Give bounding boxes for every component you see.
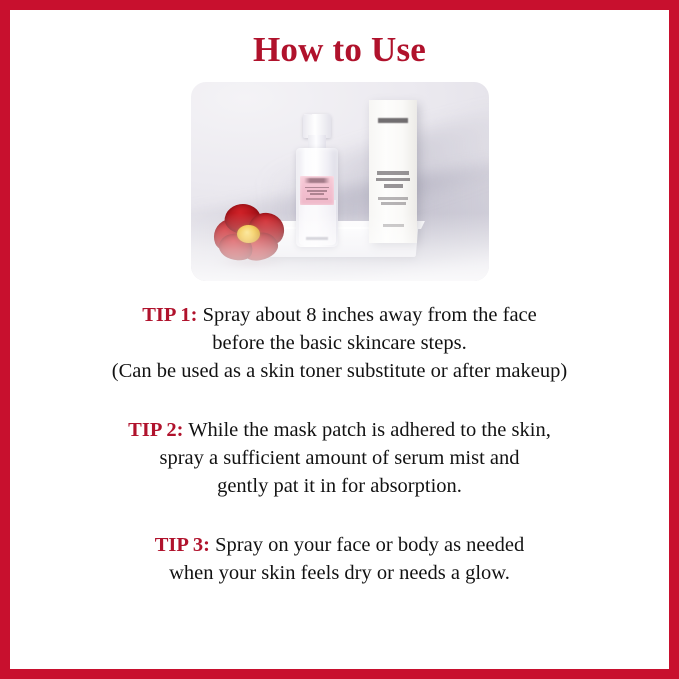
tip-1-line-3: (Can be used as a skin toner substitute … <box>24 357 655 385</box>
backdrop-floor-glow <box>191 213 489 281</box>
bottle-label-text-line <box>307 190 328 192</box>
bottle-label-text-line <box>306 198 328 199</box>
tip-3-line-1: Spray on your face or body as needed <box>215 534 524 556</box>
tip-1-line-1: Spray about 8 inches away from the face <box>203 304 537 326</box>
tip-2-line-3: gently pat it in for absorption. <box>24 472 655 500</box>
bottle-label <box>300 176 334 206</box>
card-inner: How to Use <box>10 10 669 669</box>
tips-list: TIP 1: Spray about 8 inches away from th… <box>10 301 669 587</box>
tip-2-line-1: While the mask patch is adhered to the s… <box>188 419 551 441</box>
box-brand-mark <box>378 118 409 123</box>
page-title: How to Use <box>253 32 426 69</box>
bottle-nozzle-icon <box>304 114 312 115</box>
tip-1-label: TIP 1: <box>142 304 197 326</box>
tip-3-line-2: when your skin feels dry or needs a glow… <box>24 559 655 587</box>
box-text-line <box>377 171 409 175</box>
box-text-line <box>384 184 403 187</box>
box-text-line <box>381 202 406 205</box>
box-text-line <box>378 197 409 200</box>
tip-3-label: TIP 3: <box>155 534 210 556</box>
tip-2-label: TIP 2: <box>128 419 183 441</box>
tip-item-1: TIP 1: Spray about 8 inches away from th… <box>10 301 669 385</box>
bottle-label-brand-mark <box>300 178 334 183</box>
how-to-use-card: How to Use <box>0 0 679 679</box>
tip-item-3: TIP 3: Spray on your face or body as nee… <box>10 531 669 587</box>
box-text-line <box>376 178 410 182</box>
tip-item-2: TIP 2: While the mask patch is adhered t… <box>10 416 669 500</box>
bottle-label-text-line <box>310 193 324 194</box>
product-image-panel <box>191 82 489 281</box>
tip-1-line-2: before the basic skincare steps. <box>24 329 655 357</box>
tip-2-line-2: spray a sufficient amount of serum mist … <box>24 444 655 472</box>
bottle-label-text-line <box>305 187 330 189</box>
